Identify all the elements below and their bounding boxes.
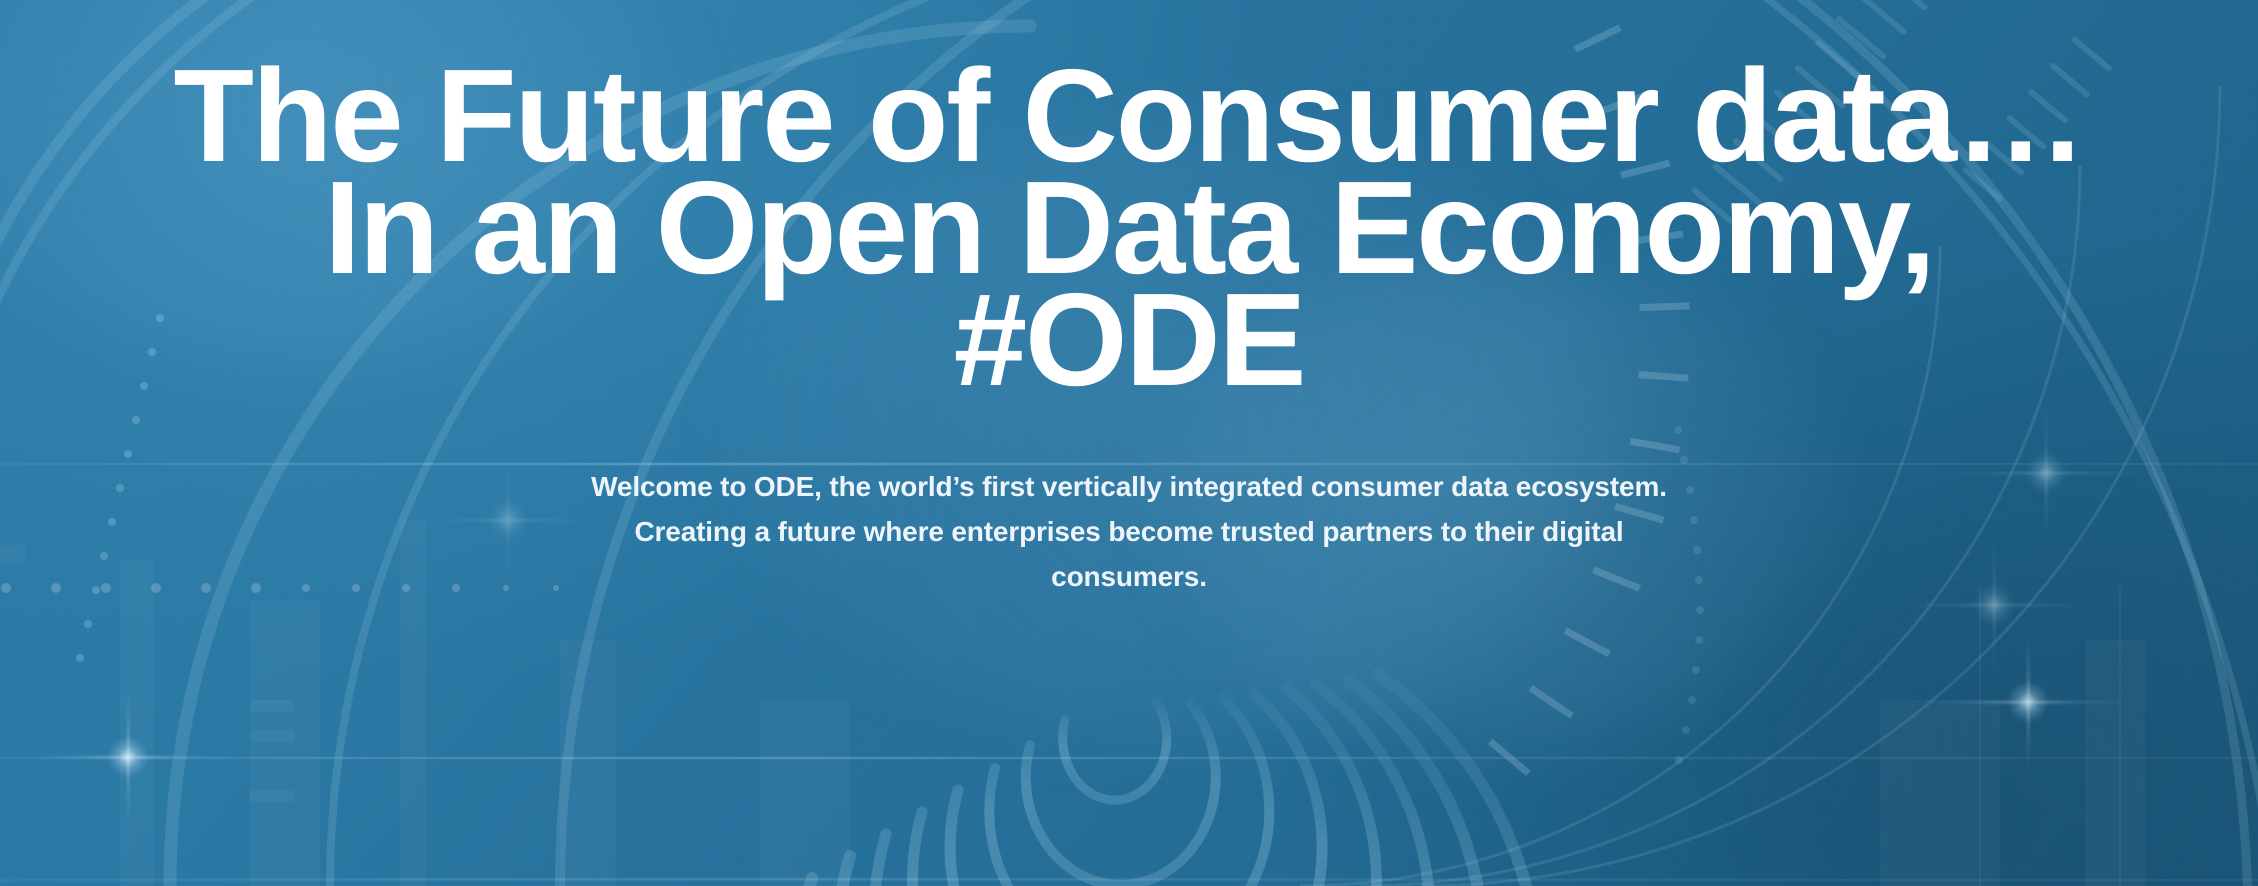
hero-subtitle: Welcome to ODE, the world’s first vertic…: [539, 464, 1719, 599]
hero-content: The Future of Consumer data… In an Open …: [0, 0, 2258, 886]
hero-subtitle-line-3: consumers.: [539, 554, 1719, 599]
hero-subtitle-line-1: Welcome to ODE, the world’s first vertic…: [539, 464, 1719, 509]
page-title: The Future of Consumer data… In an Open …: [0, 0, 2258, 396]
hero-subtitle-line-2: Creating a future where enterprises beco…: [539, 509, 1719, 554]
hero-banner: The Future of Consumer data… In an Open …: [0, 0, 2258, 886]
